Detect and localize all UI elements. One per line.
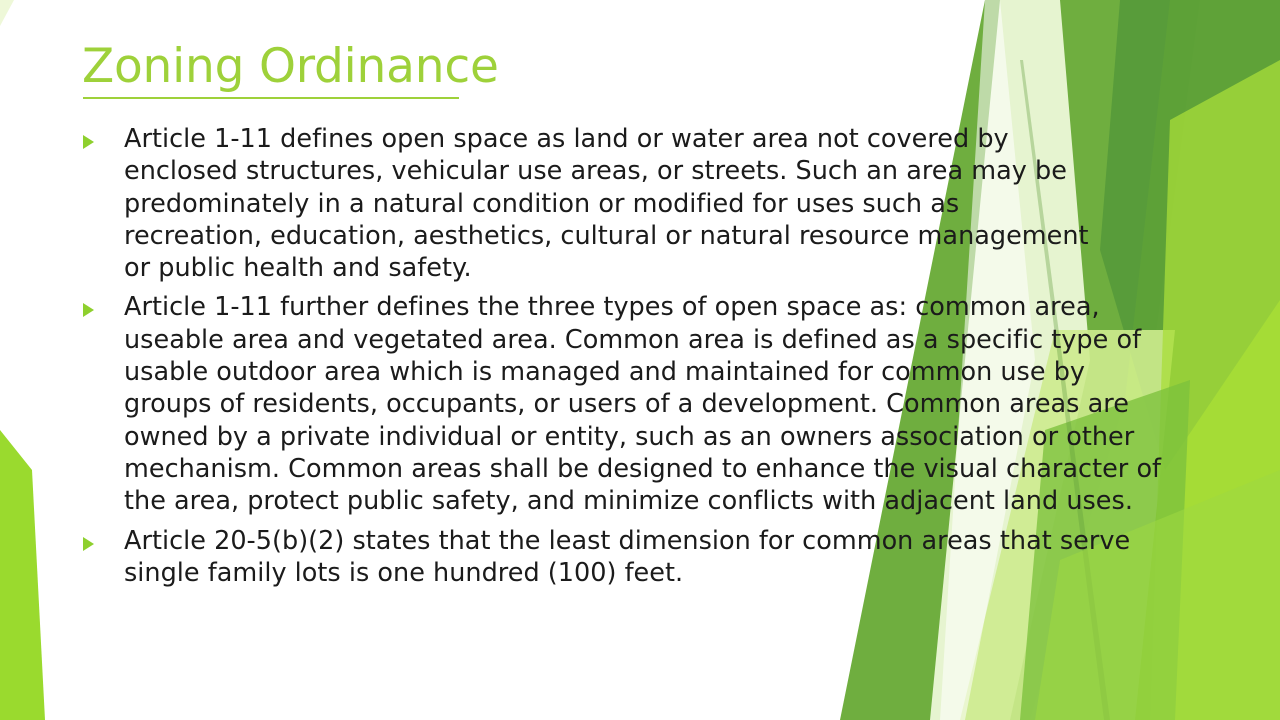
list-item-text: Article 1-11 further defines the three t… [124, 291, 1173, 517]
page-title: Zoning Ordinance [82, 42, 499, 93]
triangle-right-icon [78, 525, 124, 551]
list-item: Article 1-11 further defines the three t… [78, 291, 1173, 517]
bullet-list: Article 1-11 defines open space as land … [78, 123, 1173, 596]
list-item-text: Article 20-5(b)(2) states that the least… [124, 525, 1159, 590]
slide-content: Zoning Ordinance Article 1-11 defines op… [0, 0, 1280, 720]
triangle-right-icon [78, 291, 124, 317]
triangle-right-icon [78, 123, 124, 149]
list-item-text: Article 1-11 defines open space as land … [124, 123, 1099, 284]
title-underline [83, 97, 459, 99]
slide-canvas: Zoning Ordinance Article 1-11 defines op… [0, 0, 1280, 720]
list-item: Article 20-5(b)(2) states that the least… [78, 525, 1173, 590]
list-item: Article 1-11 defines open space as land … [78, 123, 1173, 284]
